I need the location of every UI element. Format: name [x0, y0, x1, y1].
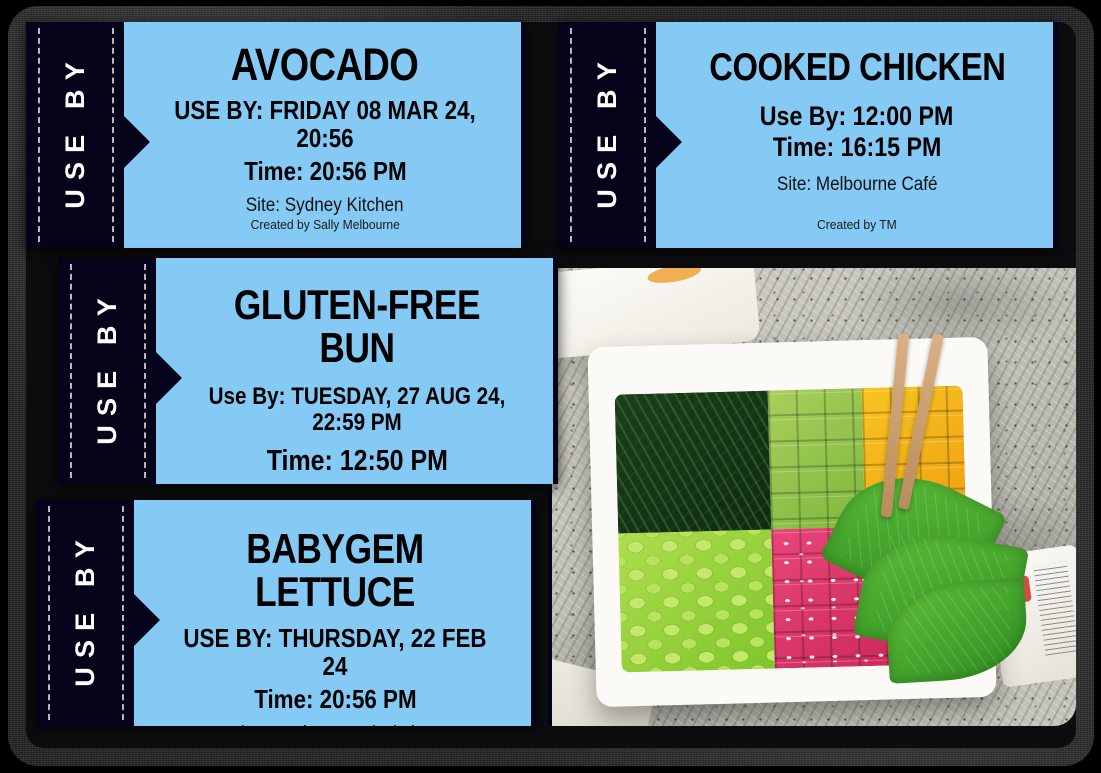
label-body: COOKED CHICKEN Use By: 12:00 PM Time: 16… — [656, 22, 1058, 248]
product-title: AVOCADO — [231, 42, 418, 88]
food-photo — [548, 268, 1076, 726]
product-title: GLUTEN-FREE BUN — [203, 284, 510, 370]
seaweed-strand-texture — [615, 391, 772, 534]
time-value: Time: 20:56 PM — [254, 685, 416, 714]
seaweed-section — [615, 391, 772, 534]
created-by-value: Created by Sally Melbourne — [250, 218, 399, 232]
napkin-text-lines — [1033, 562, 1076, 656]
arrow-notch-icon — [156, 352, 182, 404]
stub-label-text: USE BY — [62, 53, 89, 218]
arrow-notch-icon — [134, 594, 160, 646]
ticket-stub: USE BY — [36, 500, 134, 726]
label-body: GLUTEN-FREE BUN Use By: TUESDAY, 27 AUG … — [156, 258, 558, 484]
use-by-label-gluten-free-bun[interactable]: USE BY GLUTEN-FREE BUN Use By: TUESDAY, … — [58, 258, 558, 484]
edamame-beans-texture-2 — [618, 530, 775, 673]
arrow-notch-icon — [124, 116, 150, 168]
screenshot-root: USE BY AVOCADO USE BY: FRIDAY 08 MAR 24,… — [0, 0, 1101, 773]
product-title: COOKED CHICKEN — [709, 48, 1005, 88]
use-by-label-cooked-chicken[interactable]: USE BY COOKED CHICKEN Use By: 12:00 PM T… — [558, 22, 1058, 248]
use-by-label-babygem-lettuce[interactable]: USE BY BABYGEM LETTUCE USE BY: THURSDAY,… — [36, 500, 536, 726]
label-body: BABYGEM LETTUCE USE BY: THURSDAY, 22 FEB… — [134, 500, 536, 726]
takeaway-box — [587, 337, 996, 707]
use-by-date: Use By: 12:00 PM — [760, 102, 954, 132]
time-value: Time: 12:50 PM — [266, 446, 447, 478]
use-by-date: USE BY: THURSDAY, 22 FEB 24 — [178, 624, 493, 681]
label-body: AVOCADO USE BY: FRIDAY 08 MAR 24, 20:56 … — [124, 22, 526, 248]
stub-label-text: USE BY — [594, 53, 621, 218]
product-title: BABYGEM LETTUCE — [181, 528, 488, 614]
site-value: Site: Sydney Kitchen — [246, 196, 404, 217]
stub-label-text: USE BY — [94, 289, 121, 454]
ticket-stub: USE BY — [26, 22, 124, 248]
time-value: Time: 20:56 PM — [244, 157, 406, 186]
use-by-date: USE BY: FRIDAY 08 MAR 24, 20:56 — [168, 96, 483, 153]
arrow-notch-icon — [656, 116, 682, 168]
use-by-label-avocado[interactable]: USE BY AVOCADO USE BY: FRIDAY 08 MAR 24,… — [26, 22, 526, 248]
created-by-value: Created by TM — [817, 218, 897, 232]
site-value: Site: Melbourne Café — [777, 175, 938, 196]
use-by-date: Use By: TUESDAY, 27 AUG 24, 22:59 PM — [200, 384, 515, 437]
spinach-leaf — [884, 578, 1030, 684]
time-value: Time: 16:15 PM — [773, 133, 942, 163]
edamame-section — [618, 530, 775, 673]
stub-label-text: USE BY — [72, 531, 99, 696]
site-value: Site: Perth Central Kitchen — [229, 723, 441, 726]
lid-orange-mark — [646, 268, 702, 286]
ticket-stub: USE BY — [58, 258, 156, 484]
ticket-stub: USE BY — [558, 22, 656, 248]
